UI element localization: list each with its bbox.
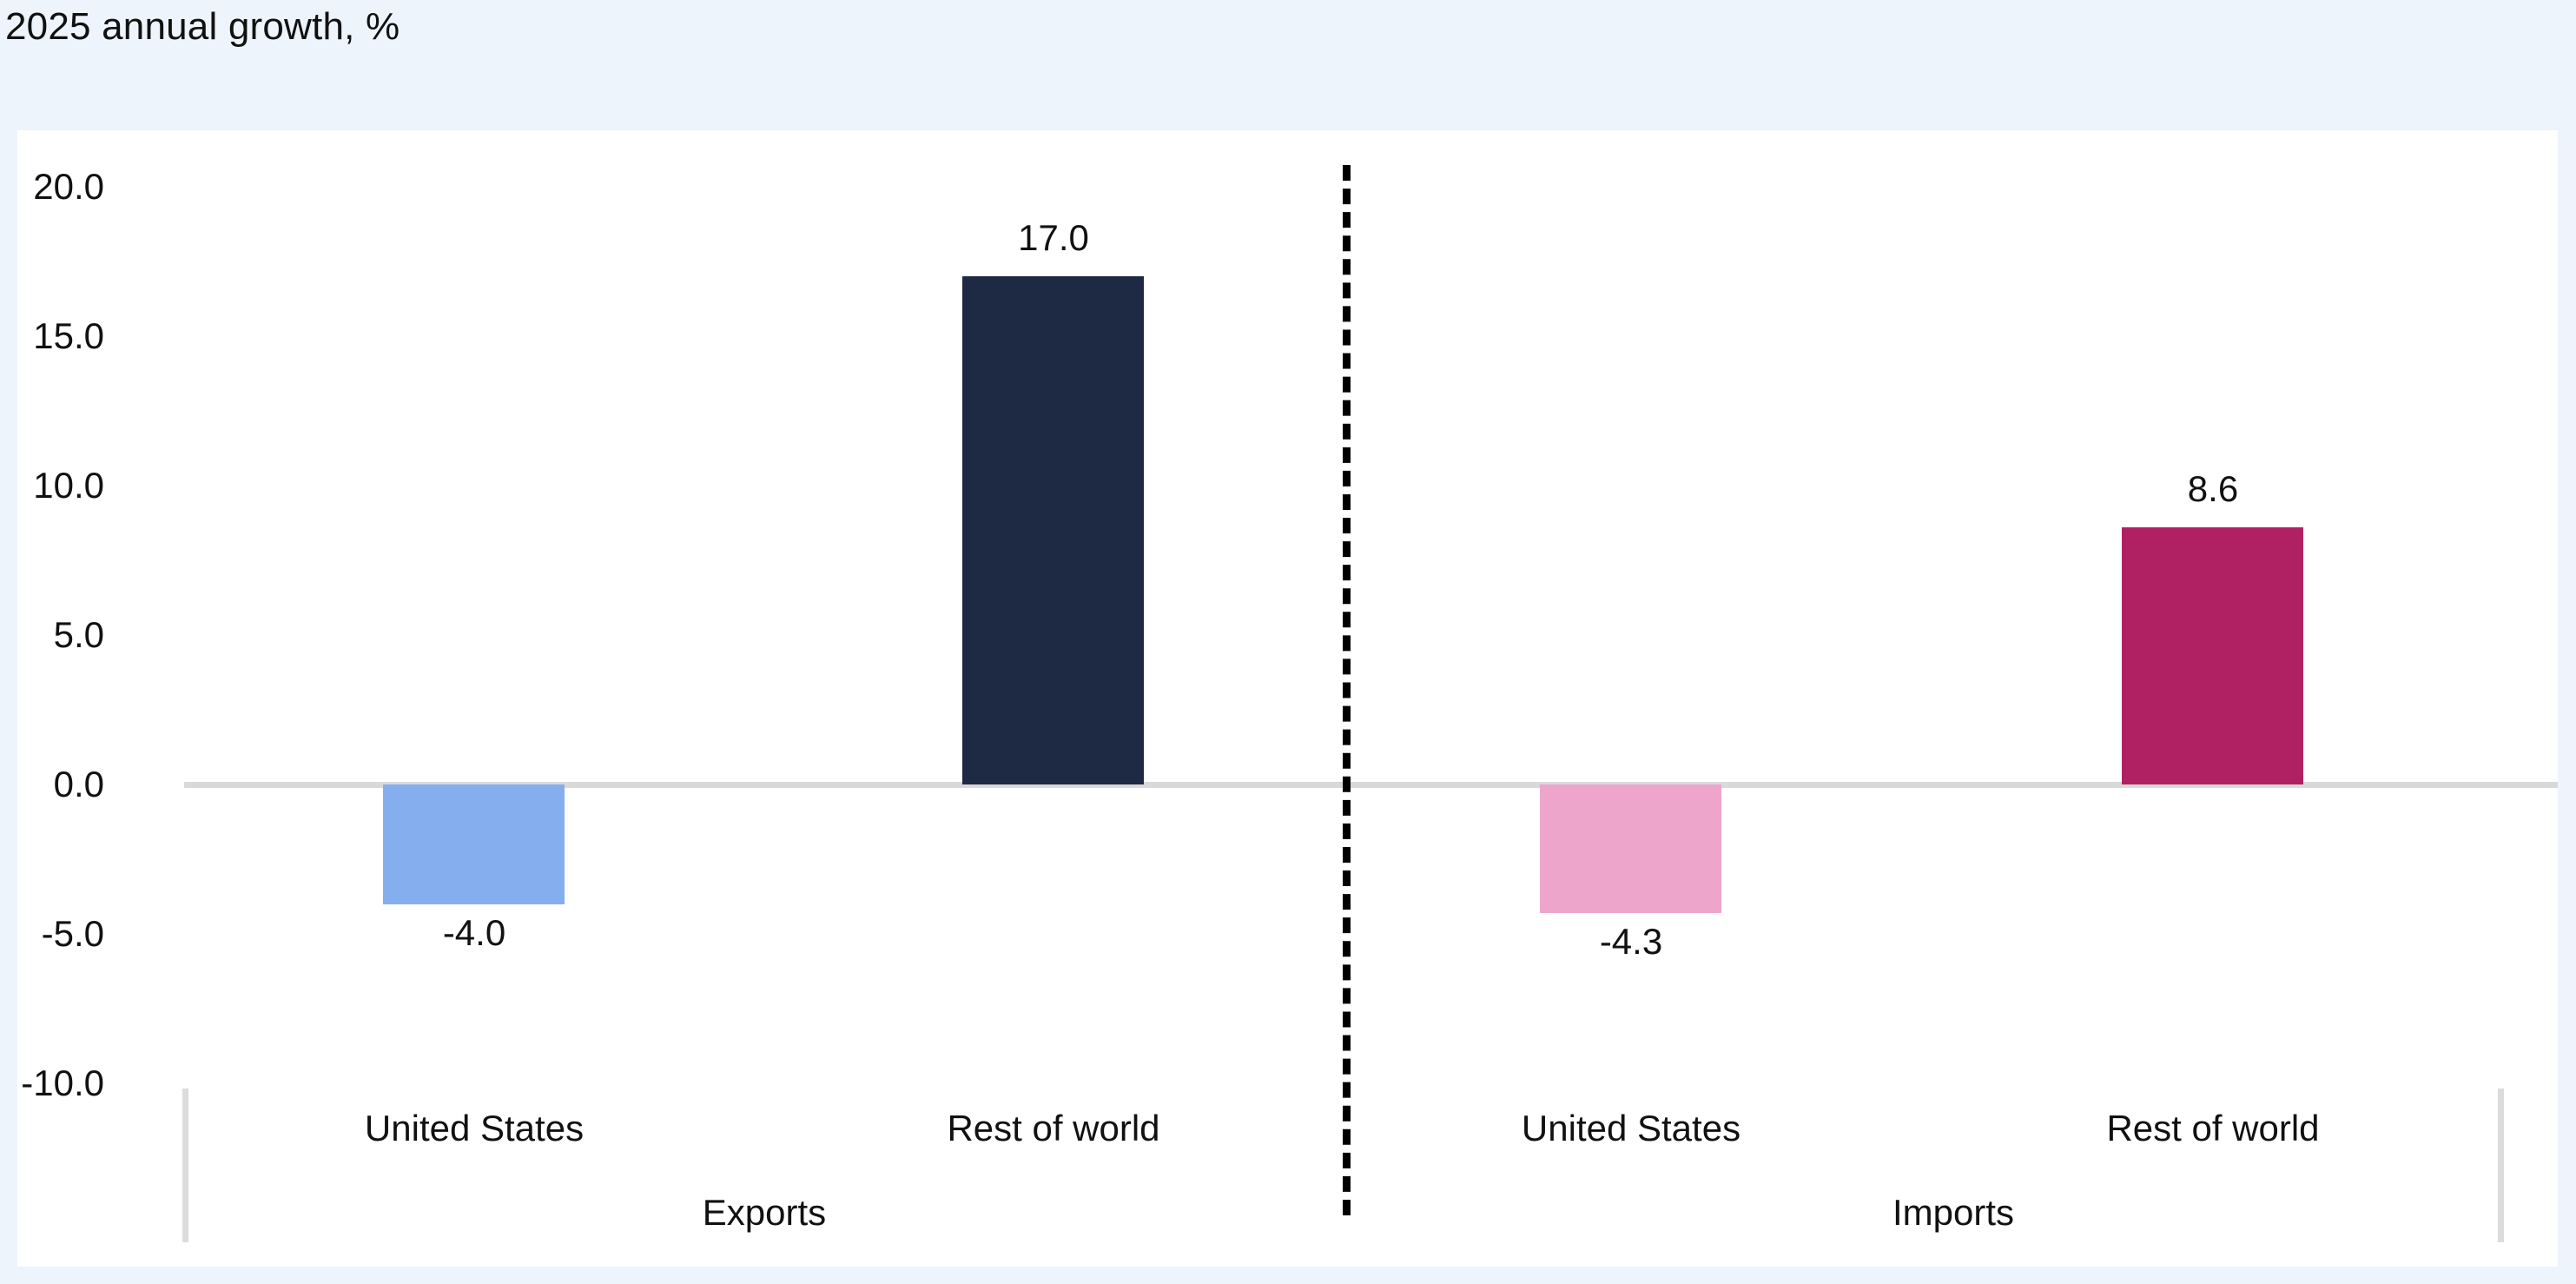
category-label-imports-united-states: United States: [1405, 1108, 1857, 1149]
category-label-imports-rest-of-world: Rest of world: [1987, 1108, 2439, 1149]
bar-exports-rest-of-world[interactable]: [962, 276, 1144, 784]
category-label-exports-united-states: United States: [248, 1108, 700, 1149]
bar-value-exports-united-states: -4.0: [335, 912, 613, 954]
y-tick-label-20: 20.0: [0, 166, 104, 208]
bar-exports-united-states[interactable]: [383, 784, 565, 904]
bar-value-imports-rest-of-world: 8.6: [2074, 468, 2352, 510]
axis-separator-left: [182, 1089, 188, 1242]
plot-area: 20.0 15.0 10.0 5.0 0.0 -5.0 -10.0 -4.0 1…: [17, 130, 2558, 1267]
y-tick-label-15: 15.0: [0, 315, 104, 357]
bar-imports-rest-of-world[interactable]: [2122, 527, 2303, 784]
y-tick-label-10: 10.0: [0, 465, 104, 506]
y-tick-label-0: 0.0: [0, 764, 104, 805]
bar-imports-united-states[interactable]: [1540, 784, 1721, 913]
axis-separator-right: [2498, 1089, 2504, 1242]
group-divider-line: [1343, 165, 1351, 1215]
group-label-exports: Exports: [504, 1192, 1025, 1234]
group-label-imports: Imports: [1693, 1192, 2214, 1234]
y-tick-label-neg5: -5.0: [0, 913, 104, 955]
bar-value-exports-rest-of-world: 17.0: [915, 217, 1192, 259]
chart-page: 2025 annual growth, % 20.0 15.0 10.0 5.0…: [0, 0, 2576, 1284]
y-tick-label-5: 5.0: [0, 614, 104, 656]
category-label-exports-rest-of-world: Rest of world: [828, 1108, 1279, 1149]
plot-card: 20.0 15.0 10.0 5.0 0.0 -5.0 -10.0 -4.0 1…: [17, 130, 2558, 1267]
y-tick-label-neg10: -10.0: [0, 1062, 104, 1104]
page-title: 2025 annual growth, %: [5, 5, 400, 49]
bar-value-imports-united-states: -4.3: [1492, 921, 1770, 963]
